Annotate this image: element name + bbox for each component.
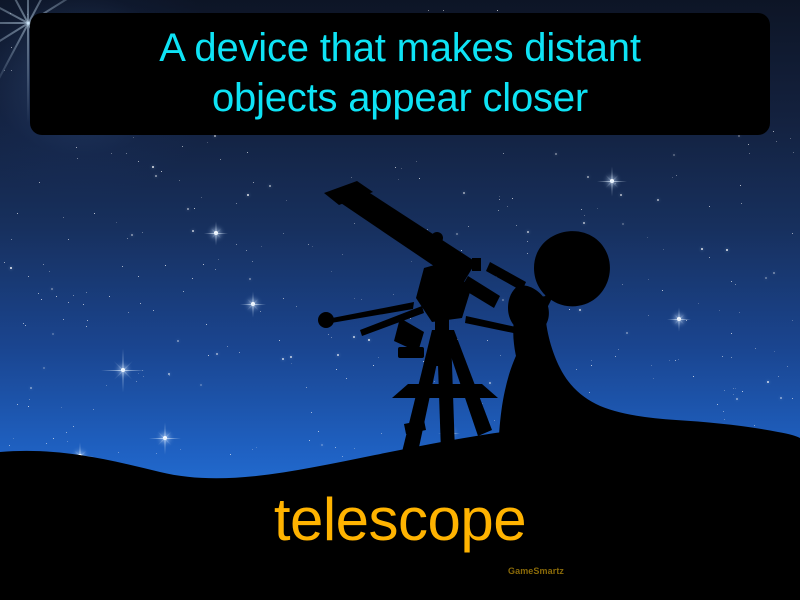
term-label: telescope [0, 490, 800, 550]
watermark-label: GameSmartz [508, 566, 564, 576]
definition-text: A device that makes distant objects appe… [159, 24, 641, 123]
definition-box: A device that makes distant objects appe… [30, 13, 770, 135]
definition-card: A device that makes distant objects appe… [0, 0, 800, 600]
term-bar: telescope [0, 482, 800, 600]
